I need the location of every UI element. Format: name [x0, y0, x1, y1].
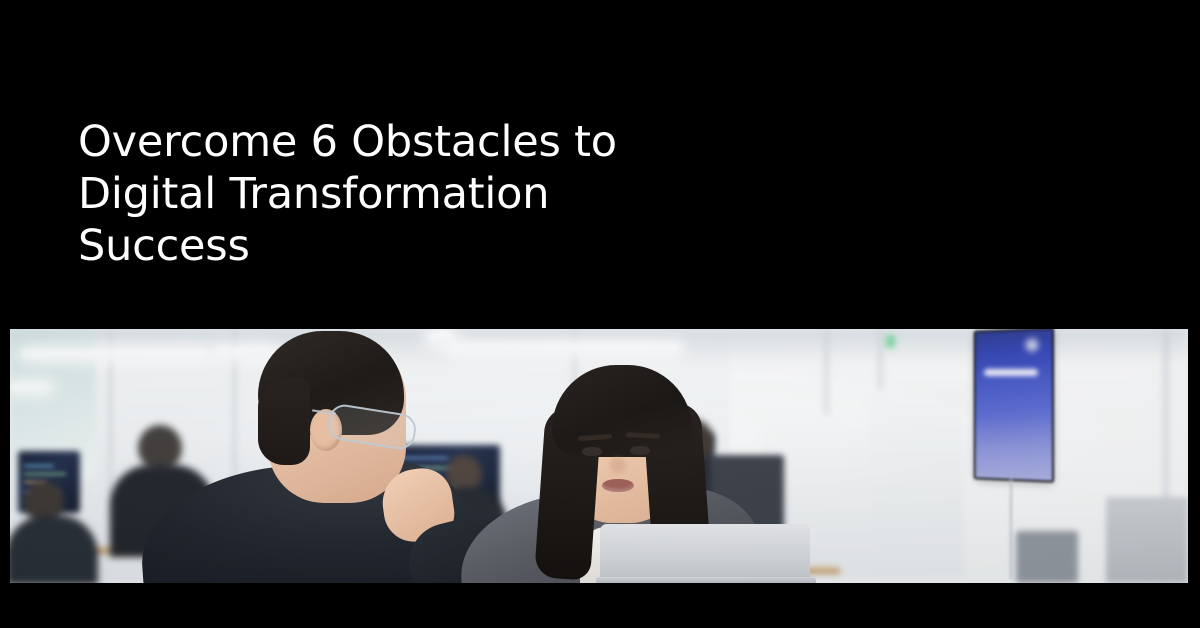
hero-photo-inner — [10, 329, 1188, 583]
hero-photo — [10, 329, 1188, 583]
woman-mouth — [602, 479, 634, 492]
man-hair-side — [258, 379, 310, 465]
title-line-3: Success — [78, 220, 698, 272]
woman-eye-right — [630, 446, 650, 455]
photo-foreground-layer — [10, 329, 1188, 583]
title-line-1: Overcome 6 Obstacles to — [78, 116, 698, 168]
laptop-base-edge — [596, 577, 816, 583]
woman-nose — [610, 457, 626, 473]
promo-banner: Overcome 6 Obstacles to Digital Transfor… — [0, 0, 1200, 628]
laptop-lid — [600, 524, 810, 583]
woman-eye-left — [582, 447, 602, 456]
page-title: Overcome 6 Obstacles to Digital Transfor… — [78, 116, 698, 272]
woman-hair-top — [552, 365, 692, 457]
title-line-2: Digital Transformation — [78, 168, 698, 220]
person-man-with-glasses — [140, 335, 480, 583]
